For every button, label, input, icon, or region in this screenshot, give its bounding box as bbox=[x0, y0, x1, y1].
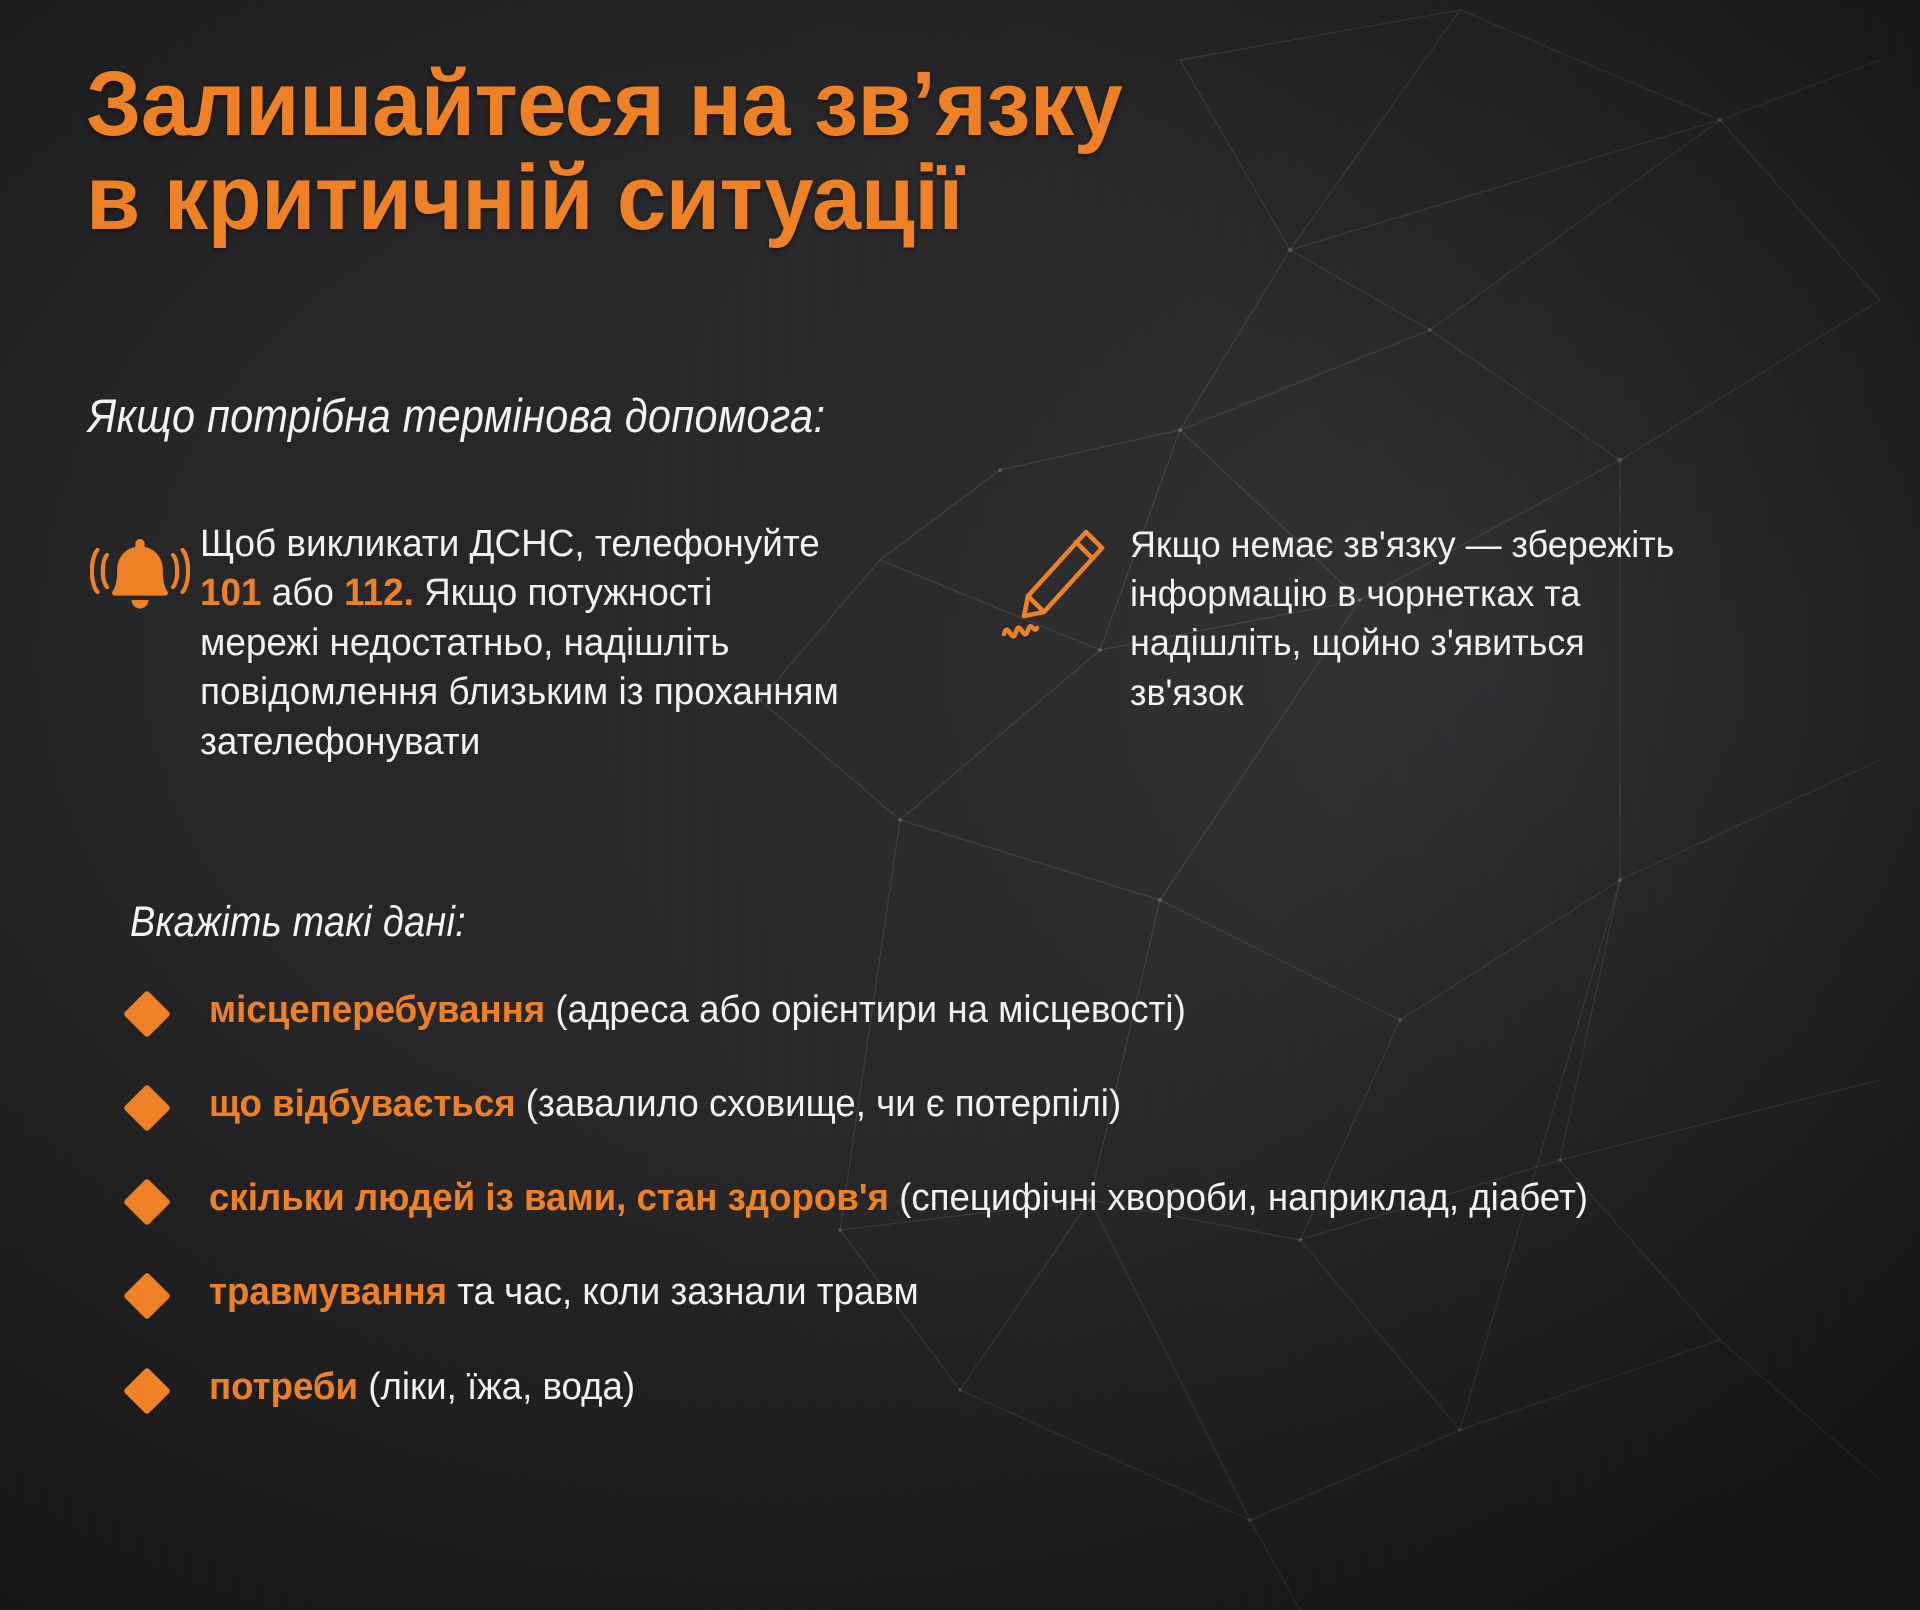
bell-icon-wrap bbox=[80, 520, 200, 620]
list-item: місцеперебування (адреса або орієнтири н… bbox=[130, 985, 1730, 1035]
page-title-line-1: Залишайтеся на зв’язку bbox=[86, 58, 1526, 152]
data-requirements-list: місцеперебування (адреса або орієнтири н… bbox=[130, 985, 1730, 1412]
list-item-highlight: місцеперебування bbox=[209, 989, 545, 1031]
pencil-icon-wrap bbox=[980, 520, 1130, 650]
list-item-text: потреби (ліки, їжа, вода) bbox=[209, 1362, 635, 1412]
list-item: скільки людей із вами, стан здоров'я (сп… bbox=[130, 1173, 1730, 1223]
callout-text-segment: або bbox=[262, 572, 345, 614]
page-title: Залишайтеся на зв’язку в критичній ситуа… bbox=[86, 58, 1526, 246]
list-item-rest: (специфічні хвороби, наприклад, діабет) bbox=[889, 1177, 1588, 1219]
phone-number-112: 112. bbox=[344, 572, 414, 614]
list-item-highlight: травмування bbox=[209, 1271, 447, 1313]
list-item-text: скільки людей із вами, стан здоров'я (сп… bbox=[209, 1173, 1588, 1223]
list-item-text: місцеперебування (адреса або орієнтири н… bbox=[209, 985, 1186, 1035]
callout-emergency-call: Щоб викликати ДСНС, телефонуйте 101 або … bbox=[80, 520, 860, 767]
lead-subtitle: Якщо потрібна термінова допомога: bbox=[88, 388, 825, 443]
callout-text-segment: Якщо немає зв'язку — збережіть інформаці… bbox=[1130, 524, 1674, 713]
list-item-rest: та час, коли зазнали травм bbox=[447, 1271, 919, 1313]
list-item-rest: (завалило сховище, чи є потерпілі) bbox=[516, 1083, 1122, 1125]
callout-no-connection: Якщо немає зв'язку — збережіть інформаці… bbox=[980, 520, 1720, 767]
list-item: потреби (ліки, їжа, вода) bbox=[130, 1362, 1730, 1412]
diamond-bullet-icon bbox=[123, 1084, 171, 1132]
phone-number-101: 101 bbox=[200, 572, 262, 614]
list-item-text: травмування та час, коли зазнали травм bbox=[209, 1267, 919, 1317]
callout-text-segment: Щоб викликати ДСНС, телефонуйте bbox=[200, 523, 820, 565]
infographic-poster: Залишайтеся на зв’язку в критичній ситуа… bbox=[0, 0, 1920, 1610]
list-item-rest: (ліки, їжа, вода) bbox=[358, 1366, 635, 1408]
list-item: травмування та час, коли зазнали травм bbox=[130, 1267, 1730, 1317]
diamond-bullet-icon bbox=[123, 1367, 171, 1415]
diamond-bullet-icon bbox=[123, 1272, 171, 1320]
list-item-highlight: скільки людей із вами, стан здоров'я bbox=[209, 1177, 889, 1219]
diamond-bullet-icon bbox=[123, 990, 171, 1038]
list-item-highlight: що відбувається bbox=[209, 1083, 516, 1125]
list-item-rest: (адреса або орієнтири на місцевості) bbox=[545, 989, 1186, 1031]
list-item-highlight: потреби bbox=[209, 1366, 358, 1408]
list-heading: Вкажіть такі дані: bbox=[130, 898, 466, 947]
callout-emergency-call-text: Щоб викликати ДСНС, телефонуйте 101 або … bbox=[200, 520, 840, 767]
diamond-bullet-icon bbox=[123, 1178, 171, 1226]
pencil-icon bbox=[990, 520, 1120, 650]
callouts-row: Щоб викликати ДСНС, телефонуйте 101 або … bbox=[80, 520, 1840, 767]
list-item-text: що відбувається (завалило сховище, чи є … bbox=[209, 1079, 1121, 1129]
list-item: що відбувається (завалило сховище, чи є … bbox=[130, 1079, 1730, 1129]
callout-no-connection-text: Якщо немає зв'язку — збережіть інформаці… bbox=[1130, 520, 1702, 717]
page-title-line-2: в критичній ситуації bbox=[86, 152, 1526, 246]
bell-icon bbox=[90, 528, 190, 620]
